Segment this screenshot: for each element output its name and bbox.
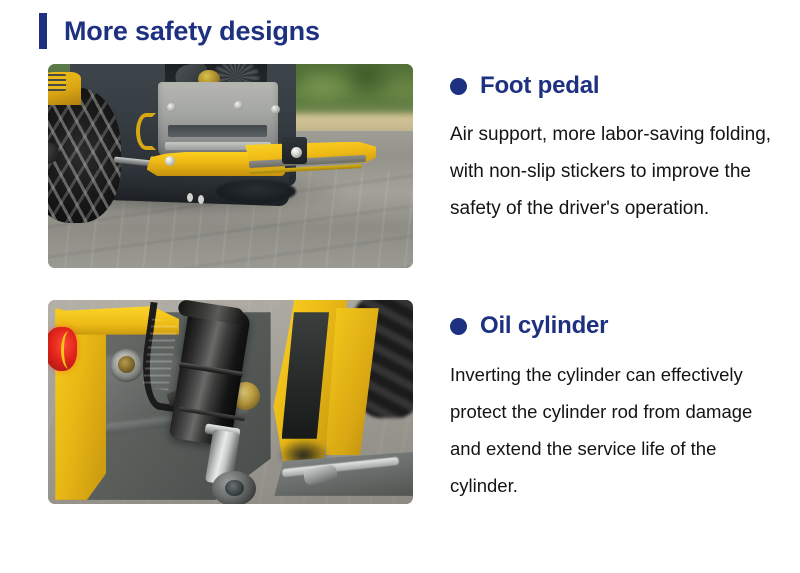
tyre-snow-chain [48,88,121,223]
bullet-dot-icon [450,78,467,95]
foot-pedal-heading: Foot pedal [450,72,786,100]
feature-row-oil-cylinder: Oil cylinder Inverting the cylinder can … [48,300,788,504]
feature-title-foot-pedal: Foot pedal [480,72,599,100]
foot-pedal-text-block: Foot pedal Air support, more labor-savin… [450,64,786,227]
feature-body-oil-cylinder: Inverting the cylinder can effectively p… [450,356,786,504]
page-title: More safety designs [64,13,320,49]
bullet-dot-icon [450,318,467,335]
section-heading: More safety designs [39,13,320,49]
grab-handle [136,113,156,150]
accent-bar-icon [39,13,47,49]
oil-cylinder-heading: Oil cylinder [450,312,786,340]
feature-row-foot-pedal: Foot pedal Air support, more labor-savin… [48,64,788,268]
oil-cylinder-photo [48,300,413,504]
feature-body-foot-pedal: Air support, more labor-saving folding, … [450,116,786,227]
foot-pedal-photo [48,64,413,268]
feature-title-oil-cylinder: Oil cylinder [480,312,608,340]
oil-cylinder-text-block: Oil cylinder Inverting the cylinder can … [450,300,786,504]
safety-designs-page: More safety designs [0,0,800,573]
